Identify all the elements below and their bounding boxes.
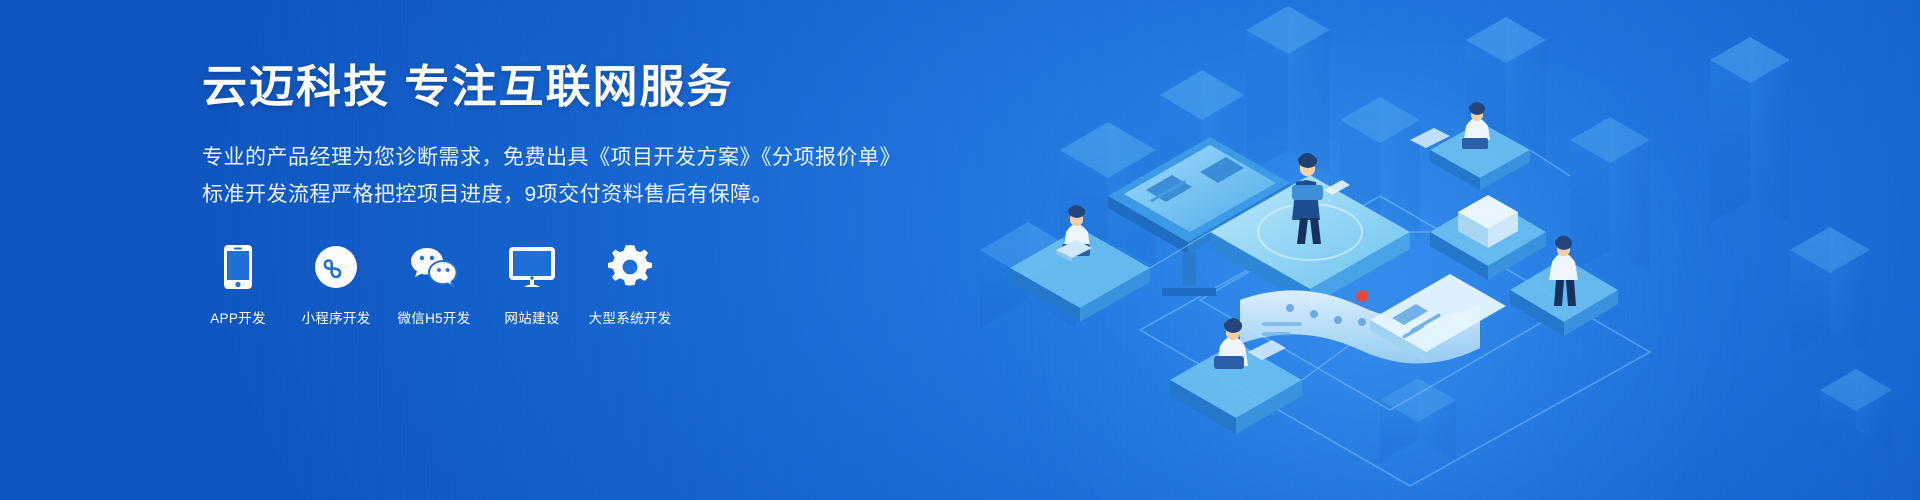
- hero-banner: 云迈科技 专注互联网服务 专业的产品经理为您诊断需求，免费出具《项目开发方案》《…: [0, 0, 1920, 500]
- service-item-system[interactable]: 大型系统开发: [594, 244, 666, 327]
- service-label: 小程序开发: [302, 307, 371, 327]
- gear-icon: [608, 244, 652, 290]
- mini-program-icon: [315, 244, 357, 290]
- service-label: 网站建设: [504, 307, 559, 327]
- monitor-icon: [509, 244, 555, 290]
- mobile-phone-icon: [224, 244, 252, 290]
- banner-content: 云迈科技 专注互联网服务 专业的产品经理为您诊断需求，免费出具《项目开发方案》《…: [202, 60, 982, 327]
- service-icon-row: APP开发 小程序开发: [202, 244, 982, 327]
- service-label: 微信H5开发: [397, 307, 470, 327]
- service-label: APP开发: [210, 307, 266, 327]
- banner-subtitle: 专业的产品经理为您诊断需求，免费出具《项目开发方案》《分项报价单》 标准开发流程…: [202, 140, 982, 214]
- service-item-app[interactable]: APP开发: [202, 244, 274, 327]
- service-item-website[interactable]: 网站建设: [496, 244, 568, 327]
- subtitle-line-1: 专业的产品经理为您诊断需求，免费出具《项目开发方案》《分项报价单》: [202, 140, 982, 177]
- subtitle-line-2: 标准开发流程严格把控项目进度，9项交付资料售后有保障。: [202, 177, 982, 214]
- service-item-wechat[interactable]: 微信H5开发: [398, 244, 470, 327]
- page-title: 云迈科技 专注互联网服务: [202, 60, 982, 114]
- service-item-miniprogram[interactable]: 小程序开发: [300, 244, 372, 327]
- isometric-tech-illustration: [910, 0, 1920, 500]
- wechat-icon: [410, 244, 458, 290]
- service-label: 大型系统开发: [589, 307, 672, 327]
